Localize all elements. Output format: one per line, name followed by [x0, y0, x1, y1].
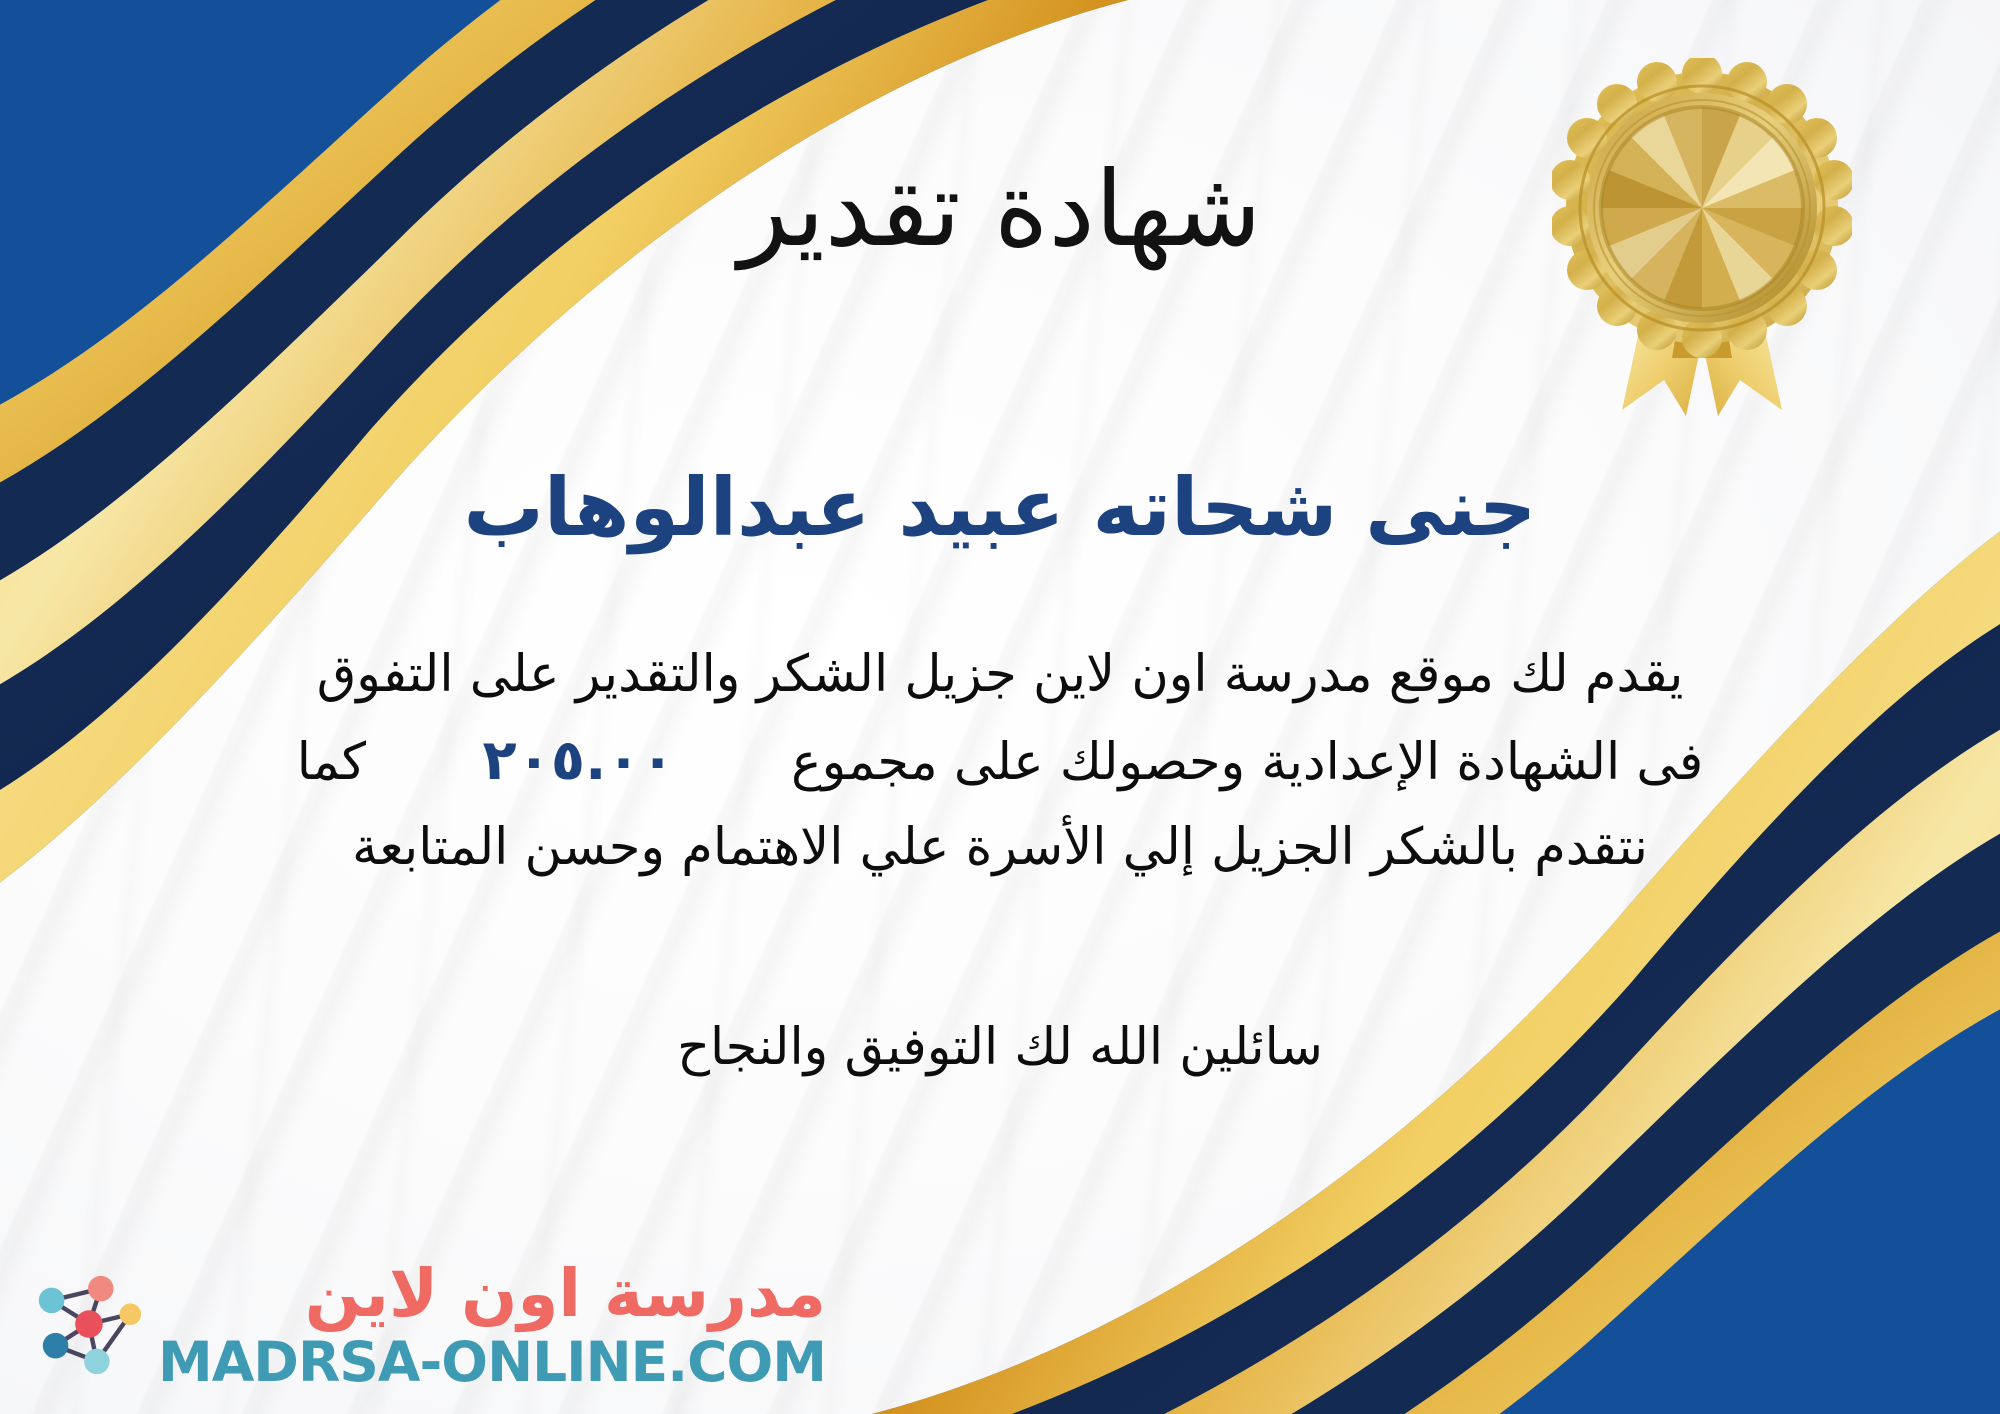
body-line-2: فى الشهادة الإعدادية وحصولك على مجموع ٢٠…	[120, 716, 1880, 807]
network-nodes-logo-icon	[28, 1267, 146, 1385]
body-line-1: يقدم لك موقع مدرسة اون لاين جزيل الشكر و…	[120, 634, 1880, 717]
grade-total-value: ٢٠٥.٠٠	[457, 716, 701, 807]
certificate-title: شهادة تقدير	[738, 150, 1261, 270]
closing-line: سائلين الله لك التوفيق والنجاح	[677, 1010, 1323, 1087]
body-line-2-suffix: كما	[297, 733, 366, 792]
recipient-name: جنى شحاته عبيد عبدالوهاب	[464, 460, 1537, 556]
certificate-body: يقدم لك موقع مدرسة اون لاين جزيل الشكر و…	[120, 634, 1880, 890]
body-line-3: نتقدم بالشكر الجزيل إلي الأسرة علي الاهت…	[120, 807, 1880, 890]
brand-text-block: مدرسة اون لاين MADRSA-ONLINE.COM	[158, 1261, 826, 1390]
certificate-content: شهادة تقدير جنى شحاته عبيد عبدالوهاب يقد…	[0, 0, 2000, 1414]
certificate-page: شهادة تقدير جنى شحاته عبيد عبدالوهاب يقد…	[0, 0, 2000, 1414]
brand-logo[interactable]: مدرسة اون لاين MADRSA-ONLINE.COM	[28, 1261, 826, 1390]
body-line-2-prefix: فى الشهادة الإعدادية وحصولك على مجموع	[791, 733, 1703, 792]
brand-arabic-name: مدرسة اون لاين	[305, 1261, 826, 1327]
brand-website: MADRSA-ONLINE.COM	[158, 1335, 826, 1390]
